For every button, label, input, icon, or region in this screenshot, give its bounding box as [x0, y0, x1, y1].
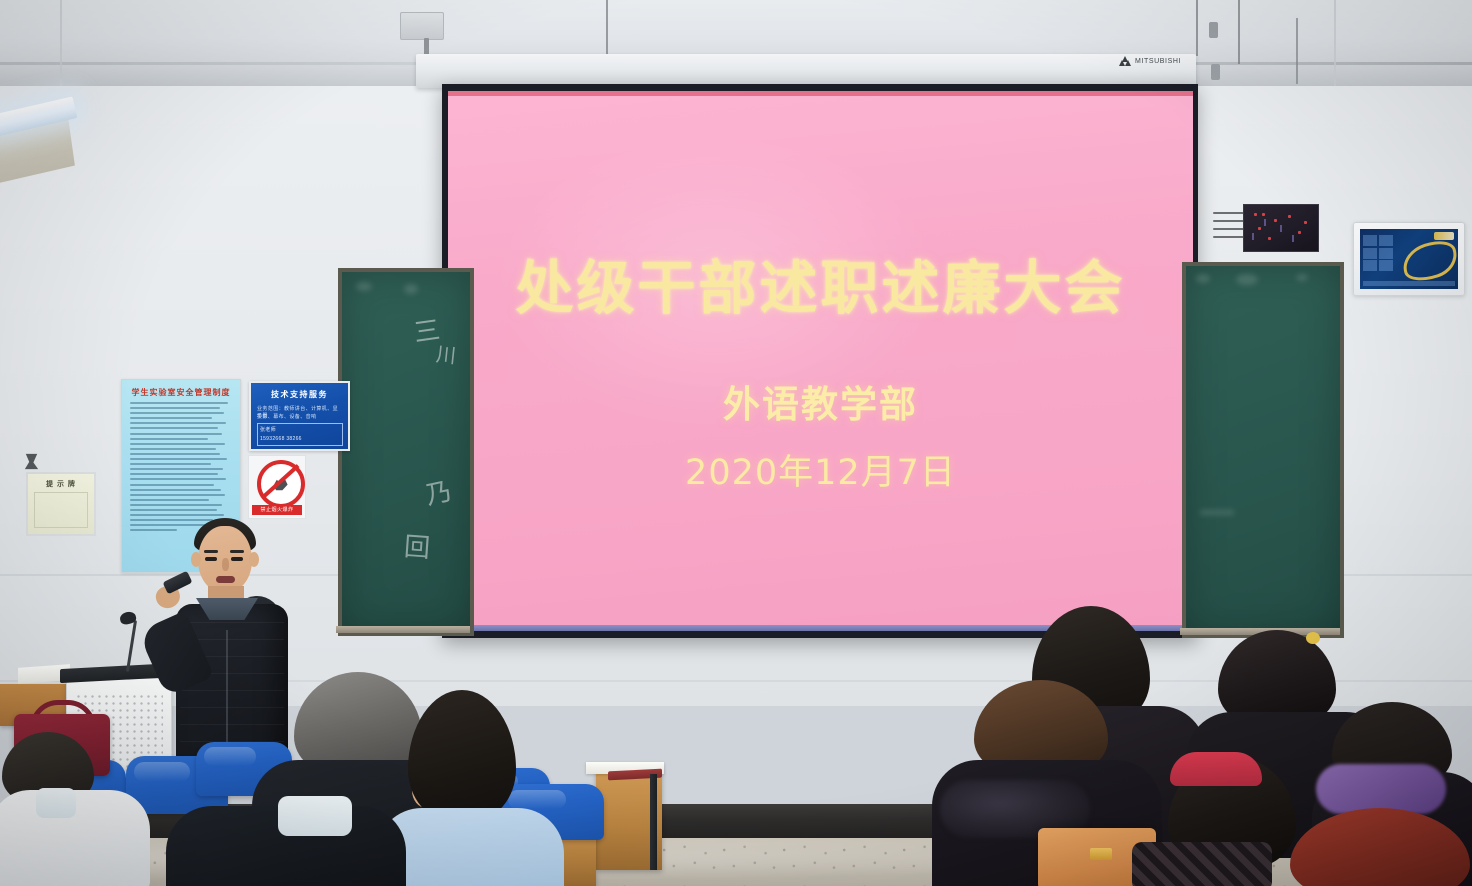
classroom-photo: MITSUBISHI 处级干部述职述廉大会 外语教学部 2020年12月7日 三… [0, 0, 1472, 886]
wall-info-display [1353, 222, 1465, 296]
sign-contact-name: 张老师 [258, 424, 342, 434]
sign-contact-phone: 15932668 38266 [258, 434, 342, 443]
wall-seam-left [60, 0, 62, 86]
speaker-ear-right [249, 552, 259, 567]
desk-leg [650, 774, 657, 870]
ceiling-cable-d [1296, 18, 1298, 84]
mitsubishi-logo-icon: MITSUBISHI [1120, 56, 1181, 66]
panel-wire-bundle [1213, 208, 1247, 248]
chalk-writing: 乃 [423, 478, 454, 511]
sign-prohibition: 禁止烟火爆炸 [248, 455, 306, 519]
sign-heading: 技术支持服务 [251, 389, 348, 400]
chalkboard-left: 三 川 乃 回 [338, 268, 474, 636]
chalk-smudge [1200, 510, 1234, 515]
wall-display-logo-icon [1434, 232, 1454, 240]
ceiling-cable-b [1196, 0, 1198, 56]
ceiling-cable-a [606, 0, 608, 54]
speaker-brow-right [230, 550, 244, 553]
speaker-mouth [216, 576, 235, 583]
poster-heading: 学生实验室安全管理制度 [130, 387, 232, 398]
chalk-writing: 川 [435, 343, 457, 367]
chalkboard-right [1182, 262, 1344, 638]
slide-subtitle: 外语教学部 [448, 374, 1193, 428]
ceiling-clip-a [1209, 22, 1218, 38]
audience-member-plaid-shirt [1132, 842, 1272, 886]
speaker-nose [222, 558, 229, 571]
mitsubishi-diamond-icon [1120, 56, 1131, 66]
audience-member-auburn-hair-woman [1290, 808, 1472, 886]
wall-display-screen [1360, 229, 1458, 289]
sign-scope-line-2: 投影、幕布、设备、音响 [257, 413, 342, 420]
hair-clip-icon [1306, 632, 1320, 644]
face-mask [278, 796, 352, 836]
audience-hair [408, 690, 516, 822]
slide-title: 处级干部述职述廉大会 [448, 241, 1193, 325]
sign-technical-support: 技术支持服务 业务范围：教师讲台、计算机、显示器 投影、幕布、设备、音响 张老师… [249, 381, 350, 451]
chalk-smudge [356, 282, 372, 291]
speaker-ear-left [191, 552, 201, 567]
speaker-eye-left [205, 557, 217, 561]
audience-member-long-hair-woman [388, 690, 568, 886]
red-headband [1170, 752, 1262, 786]
projector-brand-label: MITSUBISHI [1135, 58, 1181, 65]
chalk-smudge [1196, 274, 1210, 283]
wall-display-footer-bar [1363, 281, 1455, 286]
ceiling-clip-b [1211, 64, 1220, 80]
slide-surface: 处级干部述职述廉大会 外语教学部 2020年12月7日 [448, 91, 1193, 631]
wall-seam-right [1334, 0, 1336, 86]
prohibition-ring-icon [257, 460, 305, 508]
ceiling-cable-c [1238, 0, 1240, 64]
audience-member-white-vest [0, 732, 154, 886]
chalk-smudge [1236, 274, 1258, 285]
chalk-smudge [1296, 274, 1308, 281]
audience-member-masked-man [166, 796, 406, 886]
wall-display-graphic-icon [1398, 235, 1458, 287]
audience-plaid [1132, 842, 1272, 886]
speaker-eye-right [231, 557, 243, 561]
flame-icon [270, 473, 290, 493]
small-sign-body [34, 492, 88, 528]
slide-date: 2020年12月7日 [448, 444, 1193, 495]
sign-contact-box: 张老师 15932668 38266 [257, 423, 343, 446]
chalk-smudge [404, 284, 418, 294]
audience-hair [1290, 808, 1470, 886]
chalk-tray-left [336, 626, 470, 633]
projection-screen-housing [416, 54, 1196, 88]
speaker-brow-left [204, 550, 218, 553]
sign-notice-small: 提 示 牌 [26, 472, 96, 536]
projection-screen: 处级干部述职述廉大会 外语教学部 2020年12月7日 [442, 84, 1198, 638]
chalk-writing: 回 [403, 533, 431, 563]
electrical-control-panel[interactable] [1243, 204, 1319, 252]
small-sign-heading: 提 示 牌 [28, 479, 94, 489]
projector-mount-box [400, 12, 444, 40]
purple-scarf [1316, 764, 1446, 814]
wall-display-grid [1363, 235, 1393, 271]
face-mask [36, 788, 76, 818]
handbag-clasp-icon [1090, 848, 1112, 860]
